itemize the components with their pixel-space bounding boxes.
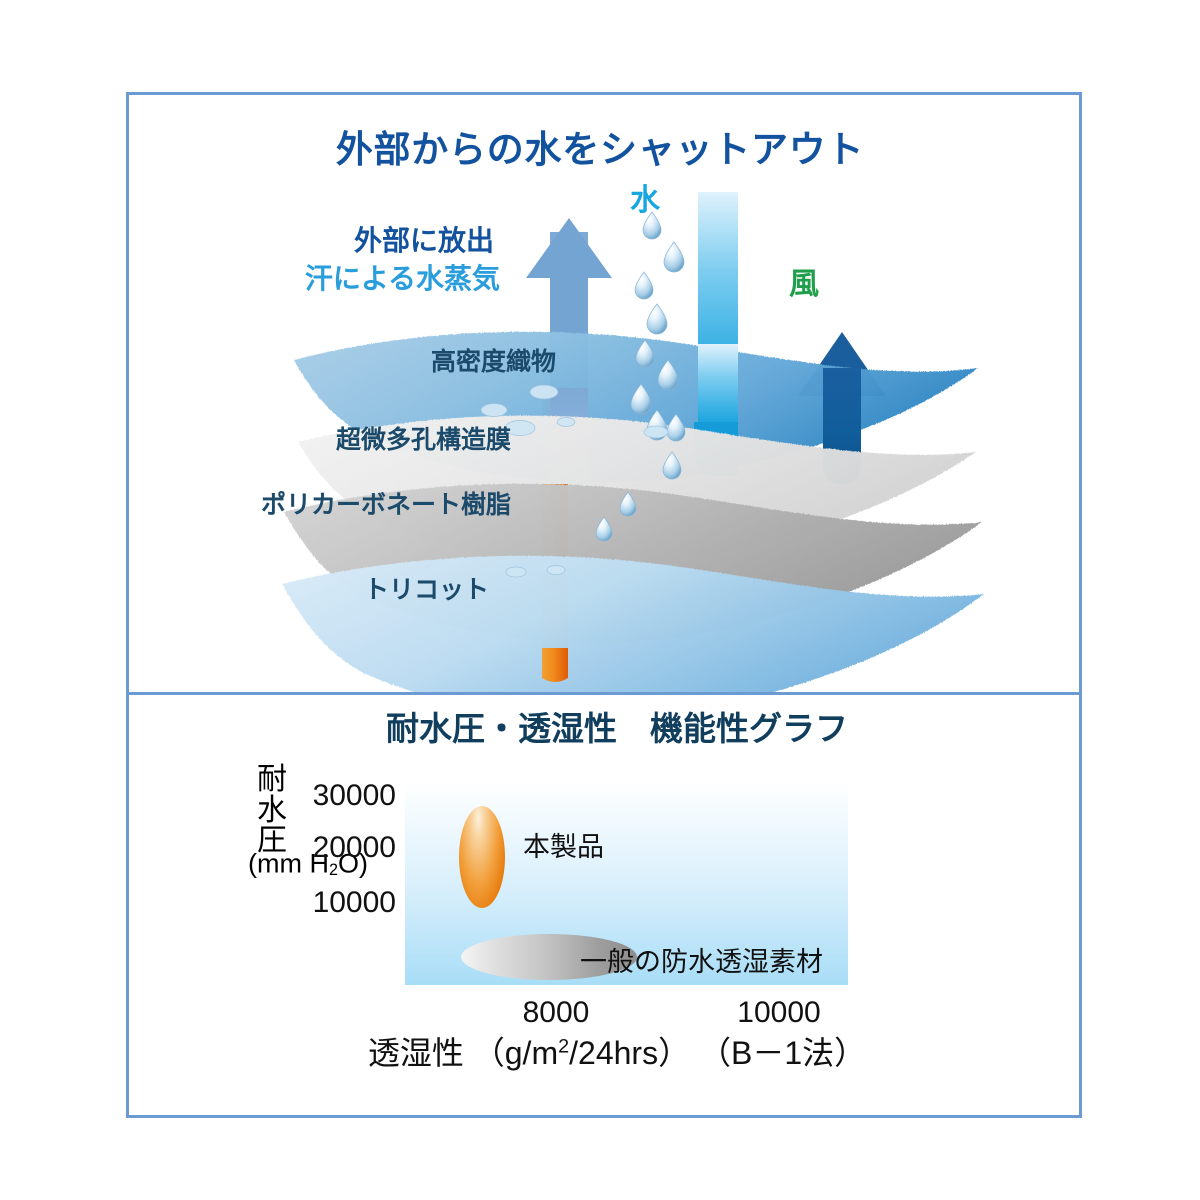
x-axis-title-part2: /24hrs） （B－1法） [569, 1035, 866, 1071]
label-sweat-vapor: 汗による水蒸気 [305, 265, 500, 293]
y-tick-label-10000: 10000 [313, 886, 396, 920]
label-wind: 風 [789, 270, 819, 300]
diagram-title: 外部からの水をシャットアウト [336, 131, 864, 168]
page-root: 外部からの水をシャットアウト 外部に放出 汗による水蒸気 水 風 高密度織物 超… [0, 0, 1200, 1200]
layer-label-polycarbonate-resin: ポリカーボネート樹脂 [261, 493, 511, 518]
layer-label-microporous-membrane: 超微多孔構造膜 [336, 428, 511, 453]
y-axis-title-ch1: 水 [257, 794, 287, 827]
chart-title: 耐水圧・透湿性 機能性グラフ [386, 712, 848, 745]
x-axis-title: 透湿性 （g/m2/24hrs） （B－1法） [368, 1028, 866, 1074]
legend-label-generic: 一般の防水透湿素材 [580, 940, 823, 979]
layer-label-high-density-fabric: 高密度織物 [431, 350, 556, 375]
legend-label-product: 本製品 [523, 825, 604, 864]
label-release-to-outside: 外部に放出 [354, 227, 494, 255]
layer-label-tricot: トリコット [364, 578, 489, 603]
data-marker-本製品[interactable] [459, 806, 505, 908]
x-tick-label-8000: 8000 [523, 996, 590, 1030]
x-axis-title-part1: 透湿性 （g/m [368, 1035, 558, 1071]
y-tick-label-20000: 20000 [313, 831, 396, 865]
y-axis-title-ch0: 耐 [257, 763, 287, 796]
fabric-layer-diagram [126, 92, 1082, 692]
section-divider [129, 692, 1079, 695]
y-axis-title: 耐 水 圧 [252, 765, 292, 857]
x-tick-label-10000: 10000 [737, 996, 820, 1030]
label-water: 水 [630, 186, 660, 216]
x-axis-title-superscript: 2 [558, 1035, 569, 1057]
resin-band-front-4 [542, 648, 568, 682]
y-tick-label-30000: 30000 [313, 779, 396, 813]
